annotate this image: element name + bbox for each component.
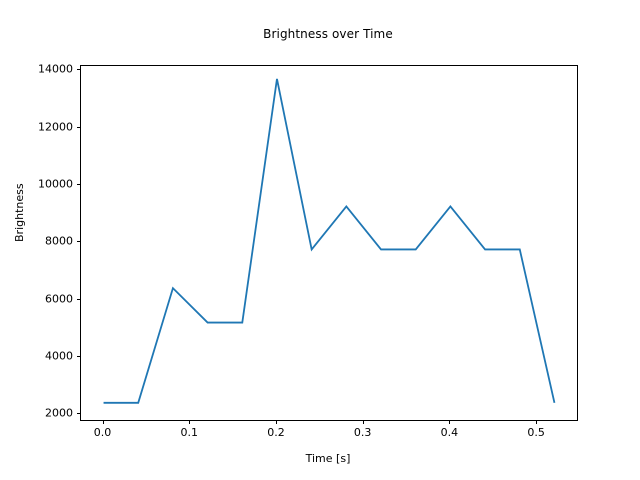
y-tick-label: 2000 bbox=[13, 407, 73, 420]
y-tick-label: 14000 bbox=[13, 63, 73, 76]
y-tick-label: 6000 bbox=[13, 292, 73, 305]
plot-area bbox=[80, 65, 578, 421]
x-tick-label: 0.2 bbox=[251, 426, 301, 439]
x-tick-label: 0.1 bbox=[164, 426, 214, 439]
x-tick-label: 0.5 bbox=[511, 426, 561, 439]
x-tick-label: 0.0 bbox=[78, 426, 128, 439]
data-series-line-brightness bbox=[104, 79, 555, 403]
line-plot-svg bbox=[81, 66, 577, 420]
y-tick-label: 4000 bbox=[13, 349, 73, 362]
x-tick-label: 0.4 bbox=[424, 426, 474, 439]
figure-canvas: Brightness over Time Brightness Time [s]… bbox=[0, 0, 640, 480]
x-axis-label: Time [s] bbox=[80, 452, 576, 465]
y-axis-label: Brightness bbox=[13, 183, 26, 242]
x-tick-label: 0.3 bbox=[338, 426, 388, 439]
y-tick-label: 12000 bbox=[13, 120, 73, 133]
chart-title: Brightness over Time bbox=[80, 27, 576, 41]
